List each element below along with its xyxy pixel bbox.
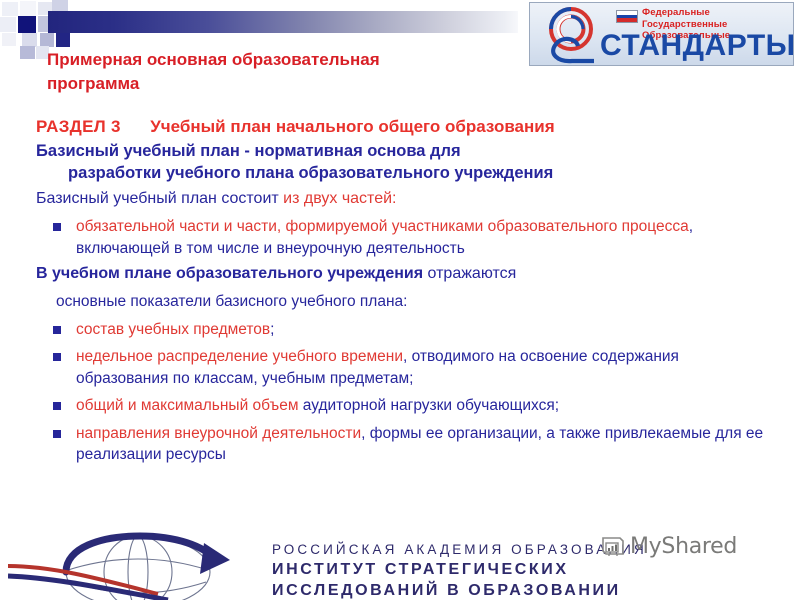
intro-paragraph: Базисный учебный план состоит из двух ча… bbox=[36, 187, 770, 210]
header-gradient-bar bbox=[48, 11, 518, 33]
fgos-wordmark: СТАНДАРТЫ bbox=[600, 29, 796, 63]
middle-bold-text: В учебном плане образовательного учрежде… bbox=[36, 265, 423, 282]
fgos-spiral-emblem bbox=[538, 6, 604, 64]
lead-line-1: Базисный учебный план - нормативная осно… bbox=[36, 140, 770, 162]
slide-body: РАЗДЕЛ 3 Учебный план начального общего … bbox=[36, 114, 770, 466]
square-bullet-icon bbox=[53, 326, 61, 334]
square-bullet-icon bbox=[53, 430, 61, 438]
bullet-red-text: направления внеурочной деятельности bbox=[76, 425, 361, 442]
org-line-1: РОССИЙСКАЯ АКАДЕМИЯ ОБРАЗОВАНИЯ bbox=[272, 542, 647, 557]
list-item: общий и максимальный объем аудиторной на… bbox=[36, 395, 770, 417]
bullet-list-parts: обязательной части и части, формируемой … bbox=[36, 216, 770, 259]
middle-line2-text: основные показатели базисного учебного п… bbox=[56, 293, 407, 310]
fgos-line-1: Федеральные bbox=[642, 7, 730, 19]
page-title-line-2: программа bbox=[47, 72, 517, 96]
section-number: РАЗДЕЛ 3 bbox=[36, 117, 121, 136]
bullet-list-indicators: состав учебных предметов; недельное расп… bbox=[36, 319, 770, 466]
square-bullet-icon bbox=[53, 353, 61, 361]
page-title: Примерная основная образовательная прогр… bbox=[47, 48, 517, 96]
russian-flag-icon bbox=[616, 10, 638, 23]
bullet-blue-text: ; bbox=[270, 321, 274, 338]
square-bullet-icon bbox=[53, 223, 61, 231]
lead-line-2: разработки учебного плана образовательно… bbox=[68, 164, 553, 182]
list-item: состав учебных предметов; bbox=[36, 319, 770, 341]
section-heading: РАЗДЕЛ 3 Учебный план начального общего … bbox=[36, 114, 770, 139]
bullet-red-text: обязательной части и части, формируемой … bbox=[76, 218, 689, 235]
middle-blue-text: отражаются bbox=[423, 265, 516, 282]
intro-red-text: из двух частей: bbox=[283, 190, 396, 207]
fgos-logo: Федеральные Государственные Образователь… bbox=[529, 2, 794, 66]
bullet-red-text: общий и максимальный объем bbox=[76, 397, 303, 414]
slide-footer: РОССИЙСКАЯ АКАДЕМИЯ ОБРАЗОВАНИЯ ИНСТИТУТ… bbox=[0, 528, 800, 600]
section-heading-text: Учебный план начального общего образован… bbox=[150, 117, 554, 136]
org-line-2: ИНСТИТУТ СТРАТЕГИЧЕСКИХ bbox=[272, 561, 647, 579]
myshared-label: MyShared bbox=[630, 534, 737, 559]
square-bullet-icon bbox=[53, 402, 61, 410]
page-title-line-1: Примерная основная образовательная bbox=[47, 48, 517, 72]
bullet-red-text: состав учебных предметов bbox=[76, 321, 270, 338]
middle-paragraph-line-2: основные показатели базисного учебного п… bbox=[36, 291, 770, 313]
lead-paragraph: Базисный учебный план - нормативная осно… bbox=[36, 140, 770, 184]
middle-paragraph: В учебном плане образовательного учрежде… bbox=[36, 262, 770, 285]
myshared-watermark: MyShared bbox=[600, 534, 737, 559]
myshared-presentation-icon bbox=[600, 535, 626, 559]
globe-arrow-logo bbox=[8, 530, 276, 600]
bullet-blue-text: аудиторной нагрузки обучающихся; bbox=[303, 397, 559, 414]
list-item: направления внеурочной деятельности, фор… bbox=[36, 423, 770, 466]
list-item: обязательной части и части, формируемой … bbox=[36, 216, 770, 259]
org-line-3: ИССЛЕДОВАНИЙ В ОБРАЗОВАНИИ bbox=[272, 582, 647, 600]
slide-canvas: Федеральные Государственные Образователь… bbox=[0, 0, 800, 600]
intro-blue-text: Базисный учебный план состоит bbox=[36, 190, 283, 207]
list-item: недельное распределение учебного времени… bbox=[36, 346, 770, 389]
bullet-red-text: недельное распределение учебного времени bbox=[76, 348, 403, 365]
organization-name: РОССИЙСКАЯ АКАДЕМИЯ ОБРАЗОВАНИЯ ИНСТИТУТ… bbox=[272, 542, 647, 600]
